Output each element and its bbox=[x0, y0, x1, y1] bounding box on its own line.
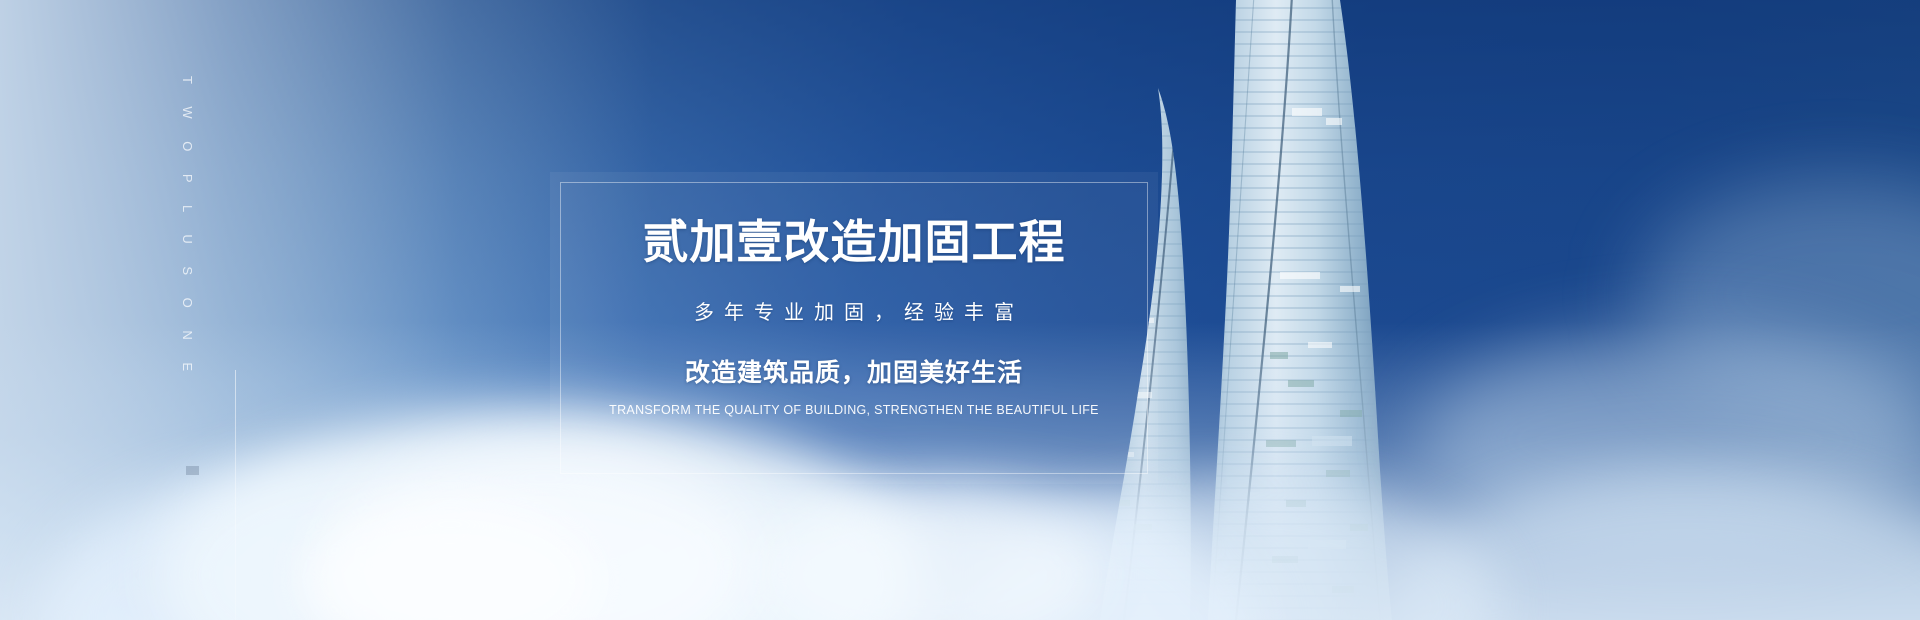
corner-mark bbox=[186, 466, 199, 475]
hero-english-tagline: TRANSFORM THE QUALITY OF BUILDING, STREN… bbox=[609, 403, 1099, 417]
hero-subline: 多年专业加固，经验丰富 bbox=[684, 296, 1024, 325]
vertical-brand-label: T W O P L U S O N E bbox=[180, 76, 195, 381]
vertical-brand: T W O P L U S O N E bbox=[168, 76, 222, 376]
hero-tagline: 改造建筑品质，加固美好生活 bbox=[685, 353, 1023, 389]
vertical-divider bbox=[235, 370, 236, 620]
hero-text-panel: 贰加壹改造加固工程 多年专业加固，经验丰富 改造建筑品质，加固美好生活 TRAN… bbox=[550, 172, 1158, 484]
hero-banner: T W O P L U S O N E 贰加壹改造加固工程 多年专业加固，经验丰… bbox=[0, 0, 1920, 620]
hero-headline: 贰加壹改造加固工程 bbox=[643, 218, 1066, 266]
hero-text-content: 贰加壹改造加固工程 多年专业加固，经验丰富 改造建筑品质，加固美好生活 TRAN… bbox=[550, 172, 1158, 484]
